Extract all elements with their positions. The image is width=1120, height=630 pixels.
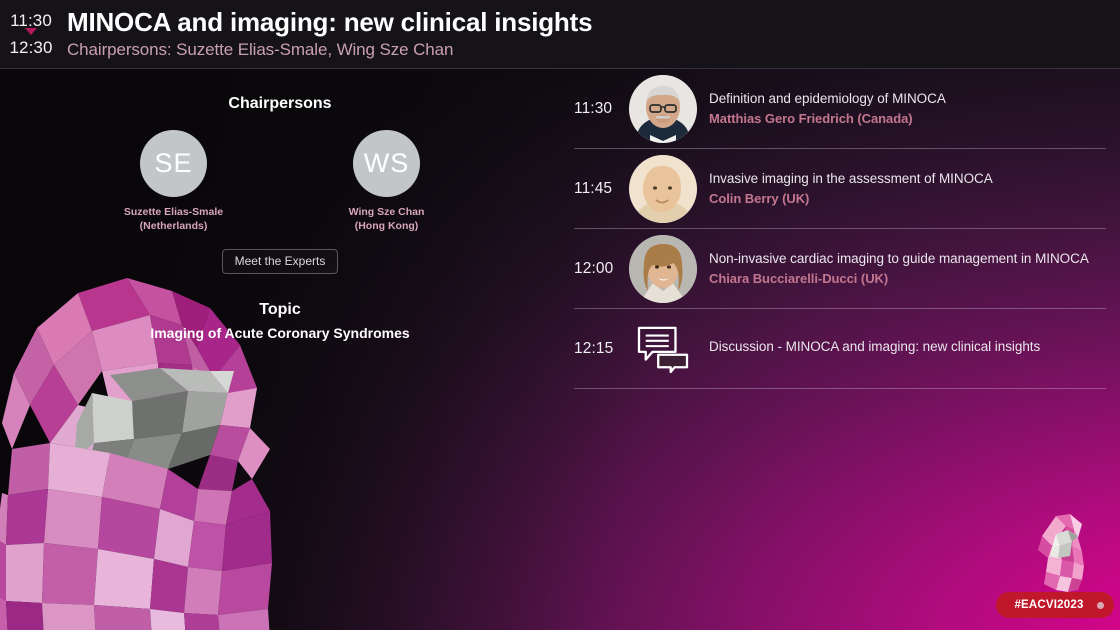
agenda-row-title: Definition and epidemiology of MINOCA [709, 90, 1106, 108]
avatar: WS [353, 130, 420, 197]
chairperson-card[interactable]: WS Wing Sze Chan (Hong Kong) [317, 130, 457, 234]
agenda-row[interactable]: 11:45 Invasive imaging in the assessment [574, 149, 1106, 229]
meet-experts-wrap: Meet the Experts [0, 249, 560, 274]
session-time-range: 11:30 12:30 [3, 12, 59, 56]
chevron-down-icon [25, 28, 37, 35]
left-info-panel: Chairpersons SE Suzette Elias-Smale (Net… [0, 69, 560, 630]
avatar: SE [140, 130, 207, 197]
speaker-photo [629, 155, 697, 223]
agenda-row[interactable]: 12:00 Non-invasive cardiac imaging to gu [574, 229, 1106, 309]
discussion-icon [629, 315, 697, 383]
session-slide: 11:30 12:30 MINOCA and imaging: new clin… [0, 0, 1120, 630]
header-titles: MINOCA and imaging: new clinical insight… [67, 8, 592, 60]
agenda-row-time: 12:15 [574, 340, 629, 358]
hashtag-label: #EACVI2023 [1014, 599, 1083, 611]
session-chairpersons-subtitle: Chairpersons: Suzette Elias-Smale, Wing … [67, 39, 592, 60]
chairpersons-heading: Chairpersons [0, 95, 560, 113]
agenda-row-texts: Non-invasive cardiac imaging to guide ma… [709, 250, 1106, 288]
hashtag-badge[interactable]: #EACVI2023 [996, 592, 1114, 618]
session-end-time: 12:30 [9, 39, 52, 56]
agenda-row-title: Invasive imaging in the assessment of MI… [709, 170, 1106, 188]
speaker-photo [629, 235, 697, 303]
topic-heading: Topic [0, 301, 560, 319]
agenda-row-speaker: Chiara Bucciarelli-Ducci (UK) [709, 270, 1106, 288]
chairperson-name: Suzette Elias-Smale (Netherlands) [124, 206, 223, 234]
chairperson-card[interactable]: SE Suzette Elias-Smale (Netherlands) [104, 130, 244, 234]
agenda-row-title: Discussion - MINOCA and imaging: new cli… [709, 338, 1106, 356]
page-title: MINOCA and imaging: new clinical insight… [67, 8, 592, 37]
agenda-row-time: 12:00 [574, 260, 629, 278]
agenda-row-time: 11:45 [574, 180, 629, 198]
chairperson-name: Wing Sze Chan (Hong Kong) [349, 206, 425, 234]
chairperson-fullname: Suzette Elias-Smale [124, 206, 223, 218]
agenda-row-title: Non-invasive cardiac imaging to guide ma… [709, 250, 1106, 268]
agenda-row[interactable]: 12:15 Discussion - MINOCA and imaging: n… [574, 309, 1106, 389]
session-header: 11:30 12:30 MINOCA and imaging: new clin… [0, 0, 1120, 69]
agenda-row-time: 11:30 [574, 100, 629, 118]
chairperson-country: (Netherlands) [140, 220, 208, 232]
agenda-row-texts: Invasive imaging in the assessment of MI… [709, 170, 1106, 208]
chairperson-fullname: Wing Sze Chan [349, 206, 425, 218]
agenda-row-texts: Discussion - MINOCA and imaging: new cli… [709, 338, 1106, 358]
meet-the-experts-button[interactable]: Meet the Experts [222, 249, 339, 274]
agenda-row-speaker: Colin Berry (UK) [709, 190, 1106, 208]
chairperson-country: (Hong Kong) [355, 220, 419, 232]
chairpersons-list: SE Suzette Elias-Smale (Netherlands) WS … [0, 130, 560, 234]
agenda-list: 11:30 [574, 69, 1106, 389]
agenda-row[interactable]: 11:30 [574, 69, 1106, 149]
session-start-time: 11:30 [10, 12, 52, 29]
topic-text: Imaging of Acute Coronary Syndromes [0, 325, 560, 341]
status-dot-icon [1097, 602, 1104, 609]
agenda-row-speaker: Matthias Gero Friedrich (Canada) [709, 110, 1106, 128]
speaker-photo [629, 75, 697, 143]
agenda-row-texts: Definition and epidemiology of MINOCA Ma… [709, 90, 1106, 128]
